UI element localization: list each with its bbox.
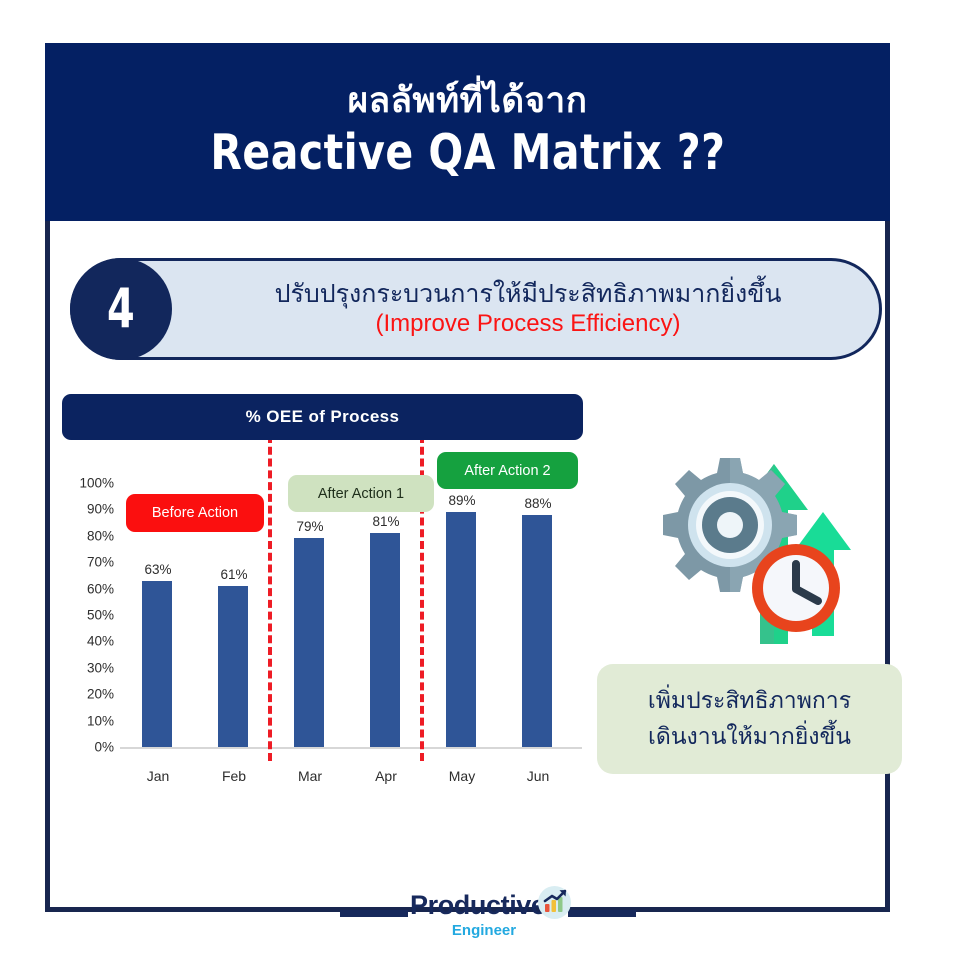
bar-slot: 79% (272, 483, 348, 747)
x-axis-label: Feb (196, 768, 272, 784)
brand-logo: Productive Engineer (410, 888, 580, 948)
header-thai-title: ผลลัพท์ที่ได้จาก (348, 83, 588, 120)
bar-feb[interactable] (218, 586, 248, 747)
y-axis-tick: 0% (62, 740, 114, 755)
bar-value-label: 89% (424, 493, 500, 508)
phase-divider (268, 435, 272, 761)
y-axis-tick: 100% (62, 476, 114, 491)
chart-y-axis: 100%90%80%70%60%50%40%30%20%10%0% (62, 483, 114, 749)
header-english-title: Reactive QA Matrix ?? (210, 124, 725, 181)
bar-apr[interactable] (370, 533, 400, 747)
bar-jun[interactable] (522, 515, 552, 747)
y-axis-tick: 70% (62, 555, 114, 570)
annotation-before-action: Before Action (126, 494, 264, 532)
x-axis-label: Jan (120, 768, 196, 784)
bar-jan[interactable] (142, 581, 172, 747)
bar-may[interactable] (446, 512, 476, 747)
bar-mar[interactable] (294, 538, 324, 747)
bar-value-label: 88% (500, 496, 576, 511)
bar-slot: 81% (348, 483, 424, 747)
chart-baseline (120, 747, 582, 749)
x-axis-label: Jun (500, 768, 576, 784)
bar-value-label: 81% (348, 514, 424, 529)
x-axis-label: Apr (348, 768, 424, 784)
note-line-2: เดินงานให้มากยิ่งขึ้น (648, 719, 851, 755)
y-axis-tick: 50% (62, 608, 114, 623)
y-axis-tick: 60% (62, 581, 114, 596)
x-axis-label: Mar (272, 768, 348, 784)
brand-name-secondary: Engineer (410, 922, 558, 939)
brand-name-primary: Productive (410, 890, 550, 921)
y-axis-tick: 20% (62, 687, 114, 702)
bar-value-label: 79% (272, 519, 348, 534)
y-axis-tick: 10% (62, 713, 114, 728)
header-banner: ผลลัพท์ที่ได้จาก Reactive QA Matrix ?? (45, 43, 890, 221)
section-header-pill: 4 ปรับปรุงกระบวนการให้มีประสิทธิภาพมากยิ… (70, 258, 882, 360)
footer-branding: Productive Engineer (0, 888, 960, 948)
annotation-after-action-1: After Action 1 (288, 475, 434, 512)
section-english-label: (Improve Process Efficiency) (376, 309, 681, 339)
section-number-badge: 4 (70, 258, 172, 360)
chart-title: % OEE of Process (246, 407, 400, 427)
bar-slot: 89% (424, 483, 500, 747)
bar-slot: 88% (500, 483, 576, 747)
chart-title-bar: % OEE of Process (62, 394, 583, 440)
x-axis-label: May (424, 768, 500, 784)
poster-canvas: ผลลัพท์ที่ได้จาก Reactive QA Matrix ?? 4… (0, 0, 960, 960)
y-axis-tick: 80% (62, 528, 114, 543)
y-axis-tick: 30% (62, 660, 114, 675)
y-axis-tick: 90% (62, 502, 114, 517)
bar-value-label: 63% (120, 562, 196, 577)
growth-chart-icon (538, 886, 571, 919)
efficiency-note-box: เพิ่มประสิทธิภาพการ เดินงานให้มากยิ่งขึ้… (597, 664, 902, 774)
section-text-group: ปรับปรุงกระบวนการให้มีประสิทธิภาพมากยิ่ง… (183, 261, 873, 357)
annotation-after-action-2: After Action 2 (437, 452, 578, 489)
efficiency-illustration (622, 412, 884, 660)
clock-icon (752, 544, 840, 632)
footer-rule-left (340, 910, 408, 917)
y-axis-tick: 40% (62, 634, 114, 649)
bar-value-label: 61% (196, 567, 272, 582)
section-thai-label: ปรับปรุงกระบวนการให้มีประสิทธิภาพมากยิ่ง… (275, 279, 782, 309)
note-line-1: เพิ่มประสิทธิภาพการ (648, 683, 851, 719)
section-number-label: 4 (107, 282, 135, 336)
